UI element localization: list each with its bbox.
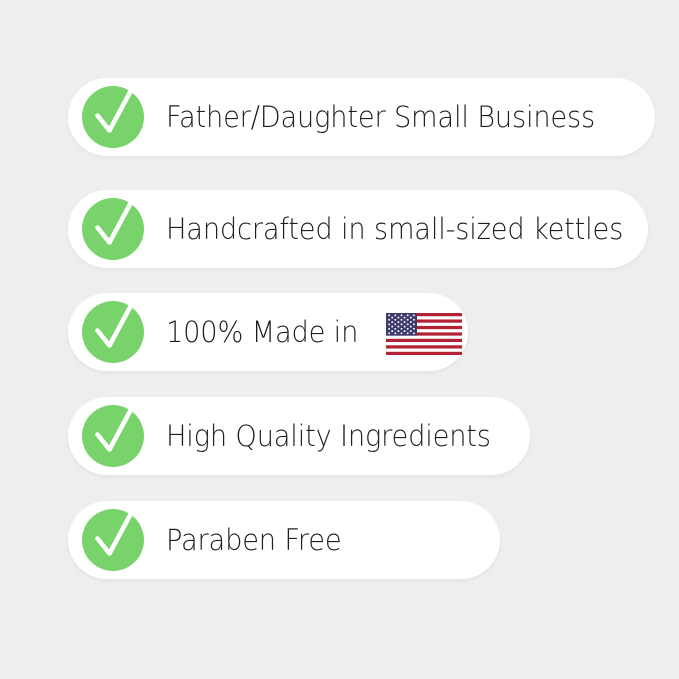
green-check-circle-icon	[82, 198, 144, 260]
feature-row: High Quality Ingredients	[68, 397, 530, 475]
feature-row: Paraben Free	[68, 501, 500, 579]
green-check-circle-icon	[82, 509, 144, 571]
feature-row: Father/Daughter Small Business	[68, 78, 655, 156]
feature-row: 100% Made in	[68, 293, 468, 371]
feature-label: Paraben Free	[166, 526, 341, 555]
feature-label: Handcrafted in small-sized kettles	[166, 215, 623, 244]
feature-row: Handcrafted in small-sized kettles	[68, 190, 648, 268]
feature-label: High Quality Ingredients	[166, 422, 491, 451]
feature-benefits-list: Father/Daughter Small Business Handcraft…	[0, 0, 679, 679]
feature-label: Father/Daughter Small Business	[166, 103, 595, 132]
green-check-circle-icon	[82, 86, 144, 148]
green-check-circle-icon	[82, 301, 144, 363]
green-check-circle-icon	[82, 405, 144, 467]
feature-label: 100% Made in	[166, 318, 358, 347]
united-states-flag-emoji	[386, 313, 462, 355]
